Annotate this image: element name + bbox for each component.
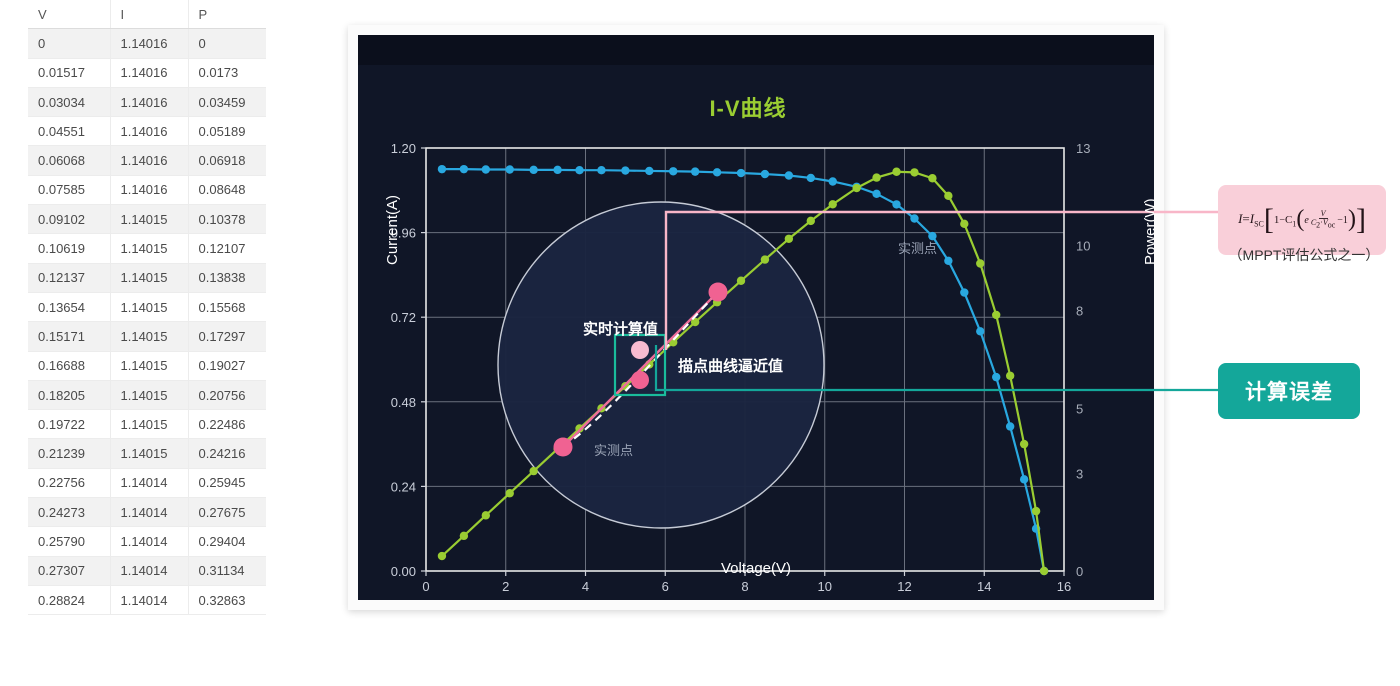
- table-cell-v: 0.19722: [28, 410, 110, 439]
- table-cell-p: 0: [188, 29, 266, 58]
- x-axis-label: Voltage(V): [358, 560, 1154, 577]
- chart-canvas: I-V曲线 02468101214160.000.240.480.720.961…: [358, 35, 1154, 600]
- series-point: [807, 174, 815, 182]
- formula-paren-close: ): [1348, 210, 1356, 229]
- table-cell-i: 1.14015: [110, 439, 188, 468]
- table-cell-i: 1.14014: [110, 527, 188, 556]
- y-right-tick-label: 8: [1076, 304, 1083, 319]
- series-point: [960, 220, 968, 228]
- table-cell-v: 0.27307: [28, 556, 110, 585]
- x-tick-label: 8: [741, 579, 748, 594]
- table-cell-i: 1.14014: [110, 585, 188, 614]
- table-cell-i: 1.14015: [110, 292, 188, 321]
- series-point: [976, 259, 984, 267]
- y-left-tick-label: 1.20: [391, 141, 416, 156]
- series-point: [992, 373, 1000, 381]
- table-row[interactable]: 0.242731.140140.27675: [28, 498, 266, 527]
- table-cell-p: 0.03459: [188, 87, 266, 116]
- series-point: [852, 184, 860, 192]
- column-header-p: P: [188, 0, 266, 29]
- series-point: [892, 168, 900, 176]
- x-tick-label: 12: [897, 579, 911, 594]
- x-tick-label: 14: [977, 579, 991, 594]
- column-header-i: I: [110, 0, 188, 29]
- table-row[interactable]: 0.136541.140150.15568: [28, 292, 266, 321]
- table-row[interactable]: 0.151711.140150.17297: [28, 322, 266, 351]
- series-point: [1006, 422, 1014, 430]
- table-row[interactable]: 0.091021.140150.10378: [28, 205, 266, 234]
- series-point: [944, 192, 952, 200]
- chart-title: I-V曲线: [548, 91, 948, 123]
- y-left-tick-label: 0.72: [391, 310, 416, 325]
- table-row[interactable]: 0.288241.140140.32863: [28, 585, 266, 614]
- table-cell-v: 0.09102: [28, 205, 110, 234]
- table-cell-v: 0.01517: [28, 58, 110, 87]
- y-axis-right-label: Power(W): [1142, 198, 1154, 265]
- iv-data-table-panel: V I P 01.1401600.015171.140160.01730.030…: [28, 0, 268, 640]
- series-point: [621, 166, 629, 174]
- table-cell-i: 1.14016: [110, 175, 188, 204]
- series-point: [460, 165, 468, 173]
- table-cell-i: 1.14016: [110, 146, 188, 175]
- series-point: [829, 200, 837, 208]
- series-point: [910, 214, 918, 222]
- table-row[interactable]: 0.197221.140150.22486: [28, 410, 266, 439]
- series-point: [785, 235, 793, 243]
- magnifier-label-realtime: 实时计算值: [583, 318, 658, 339]
- table-cell-v: 0.25790: [28, 527, 110, 556]
- series-point: [438, 165, 446, 173]
- table-body: 01.1401600.015171.140160.01730.030341.14…: [28, 29, 266, 615]
- table-cell-i: 1.14015: [110, 380, 188, 409]
- chart-card: I-V曲线 02468101214160.000.240.480.720.961…: [348, 25, 1164, 610]
- series-point: [992, 311, 1000, 319]
- series-point: [872, 190, 880, 198]
- formula-bracket-open: [: [1264, 208, 1274, 232]
- table-row[interactable]: 0.106191.140150.12107: [28, 234, 266, 263]
- table-cell-i: 1.14016: [110, 58, 188, 87]
- series-point: [597, 166, 605, 174]
- magnifier-point-approx: [631, 371, 649, 389]
- series-point: [1006, 372, 1014, 380]
- x-tick-label: 2: [502, 579, 509, 594]
- table-cell-v: 0: [28, 29, 110, 58]
- series-point: [910, 168, 918, 176]
- table-cell-p: 0.24216: [188, 439, 266, 468]
- y-right-tick-label: 13: [1076, 141, 1090, 156]
- formula-bracket-close: ]: [1356, 208, 1366, 232]
- magnifier-point-measured-bottom: [554, 438, 573, 457]
- table-cell-p: 0.20756: [188, 380, 266, 409]
- table-cell-i: 1.14015: [110, 351, 188, 380]
- series-point: [506, 165, 514, 173]
- series-point: [691, 167, 699, 175]
- y-right-tick-label: 3: [1076, 466, 1083, 481]
- series-point: [960, 288, 968, 296]
- table-cell-p: 0.13838: [188, 263, 266, 292]
- table-cell-p: 0.32863: [188, 585, 266, 614]
- table-cell-p: 0.29404: [188, 527, 266, 556]
- formula-exponent-fraction: VC2·Voc: [1309, 210, 1337, 229]
- formula-minus-one: −1: [1337, 215, 1348, 226]
- table-cell-i: 1.14015: [110, 263, 188, 292]
- series-point: [892, 200, 900, 208]
- series-point: [713, 168, 721, 176]
- table-cell-p: 0.08648: [188, 175, 266, 204]
- table-cell-i: 1.14014: [110, 556, 188, 585]
- table-row[interactable]: 0.273071.140140.31134: [28, 556, 266, 585]
- formula-equals: =: [1242, 211, 1249, 226]
- x-tick-label: 10: [818, 579, 832, 594]
- series-point: [785, 171, 793, 179]
- table-row[interactable]: 0.257901.140140.29404: [28, 527, 266, 556]
- series-point: [737, 169, 745, 177]
- table-cell-v: 0.28824: [28, 585, 110, 614]
- table-cell-p: 0.0173: [188, 58, 266, 87]
- formula-isc-sub: SC: [1254, 220, 1264, 229]
- magnifier-label-measured-top: 实测点: [898, 238, 937, 257]
- series-point: [529, 467, 537, 475]
- series-point: [807, 217, 815, 225]
- column-header-v: V: [28, 0, 110, 29]
- table-cell-i: 1.14015: [110, 410, 188, 439]
- table-cell-v: 0.03034: [28, 87, 110, 116]
- magnifier-label-approx: 描点曲线逼近值: [678, 355, 783, 376]
- series-point: [976, 327, 984, 335]
- series-point: [1032, 507, 1040, 515]
- y-right-tick-label: 5: [1076, 401, 1083, 416]
- formula-frac-den-v-sub: oc: [1328, 220, 1336, 229]
- table-cell-v: 0.04551: [28, 117, 110, 146]
- series-point: [553, 166, 561, 174]
- series-point: [761, 170, 769, 178]
- magnifier-point-realtime: [631, 341, 649, 359]
- table-header-row: V I P: [28, 0, 266, 29]
- table-cell-p: 0.25945: [188, 468, 266, 497]
- series-point: [669, 167, 677, 175]
- magnifier-label-measured-bottom: 实测点: [594, 440, 633, 459]
- series-point: [1020, 475, 1028, 483]
- series-point: [645, 167, 653, 175]
- table-cell-v: 0.16688: [28, 351, 110, 380]
- y-right-tick-label: 10: [1076, 239, 1090, 254]
- x-tick-label: 16: [1057, 579, 1071, 594]
- table-cell-i: 1.14015: [110, 234, 188, 263]
- series-point: [829, 177, 837, 185]
- y-left-tick-label: 0.24: [391, 479, 416, 494]
- table-row[interactable]: 0.015171.140160.0173: [28, 58, 266, 87]
- table-row[interactable]: 0.045511.140160.05189: [28, 117, 266, 146]
- table-cell-p: 0.17297: [188, 322, 266, 351]
- table-cell-p: 0.06918: [188, 146, 266, 175]
- table-cell-i: 1.14016: [110, 87, 188, 116]
- table-cell-i: 1.14015: [110, 322, 188, 351]
- formula-caption: （MPPT评估公式之一）: [1206, 245, 1400, 265]
- table-row[interactable]: 0.212391.140150.24216: [28, 439, 266, 468]
- magnifier-point-measured-top: [709, 283, 728, 302]
- table-cell-v: 0.24273: [28, 498, 110, 527]
- table-row[interactable]: 0.075851.140160.08648: [28, 175, 266, 204]
- series-point: [872, 173, 880, 181]
- table-cell-p: 0.12107: [188, 234, 266, 263]
- iv-data-table: V I P 01.1401600.015171.140160.01730.030…: [28, 0, 266, 615]
- table-cell-v: 0.15171: [28, 322, 110, 351]
- table-cell-v: 0.07585: [28, 175, 110, 204]
- table-cell-v: 0.22756: [28, 468, 110, 497]
- y-axis-left-label: Current(A): [384, 195, 401, 265]
- table-cell-v: 0.18205: [28, 380, 110, 409]
- table-cell-i: 1.14014: [110, 468, 188, 497]
- table-row[interactable]: 0.121371.140150.13838: [28, 263, 266, 292]
- table-cell-p: 0.31134: [188, 556, 266, 585]
- series-point: [529, 166, 537, 174]
- series-point: [460, 532, 468, 540]
- calculation-error-badge[interactable]: 计算误差: [1218, 363, 1360, 419]
- y-left-tick-label: 0.48: [391, 395, 416, 410]
- table-row[interactable]: 01.140160: [28, 29, 266, 58]
- series-point: [761, 255, 769, 263]
- table-row[interactable]: 0.182051.140150.20756: [28, 380, 266, 409]
- series-point: [928, 174, 936, 182]
- table-cell-i: 1.14014: [110, 498, 188, 527]
- table-cell-p: 0.27675: [188, 498, 266, 527]
- series-point: [737, 277, 745, 285]
- table-cell-i: 1.14016: [110, 117, 188, 146]
- table-row[interactable]: 0.060681.140160.06918: [28, 146, 266, 175]
- table-row[interactable]: 0.227561.140140.25945: [28, 468, 266, 497]
- series-point: [482, 165, 490, 173]
- x-tick-label: 4: [582, 579, 589, 594]
- table-cell-p: 0.10378: [188, 205, 266, 234]
- table-cell-i: 1.14016: [110, 29, 188, 58]
- x-tick-label: 0: [422, 579, 429, 594]
- series-point: [944, 257, 952, 265]
- table-cell-p: 0.19027: [188, 351, 266, 380]
- series-point: [438, 552, 446, 560]
- table-cell-v: 0.13654: [28, 292, 110, 321]
- table-cell-p: 0.22486: [188, 410, 266, 439]
- series-point: [575, 166, 583, 174]
- series-point: [506, 489, 514, 497]
- table-cell-v: 0.21239: [28, 439, 110, 468]
- table-cell-v: 0.06068: [28, 146, 110, 175]
- table-row[interactable]: 0.166881.140150.19027: [28, 351, 266, 380]
- table-cell-v: 0.10619: [28, 234, 110, 263]
- series-point: [482, 511, 490, 519]
- series-point: [1020, 440, 1028, 448]
- table-row[interactable]: 0.030341.140160.03459: [28, 87, 266, 116]
- table-cell-p: 0.05189: [188, 117, 266, 146]
- table-cell-i: 1.14015: [110, 205, 188, 234]
- table-cell-p: 0.15568: [188, 292, 266, 321]
- x-tick-label: 6: [662, 579, 669, 594]
- table-cell-v: 0.12137: [28, 263, 110, 292]
